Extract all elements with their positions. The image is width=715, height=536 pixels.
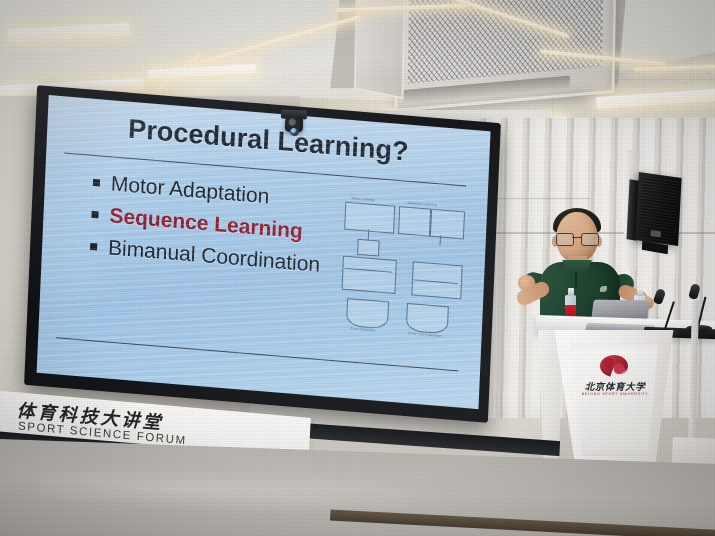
figure-panel xyxy=(342,256,397,294)
figure-caption: Prism Adaptation xyxy=(350,326,376,332)
figure-panel xyxy=(430,209,465,240)
figure-connector xyxy=(368,230,369,240)
bullet-label-motor-adaptation: Motor Adaptation xyxy=(110,172,269,210)
logo-swirl-shape xyxy=(600,355,628,377)
bullet-square-icon xyxy=(90,242,97,250)
ac-side-panel xyxy=(354,0,405,99)
bullet-square-icon xyxy=(93,179,100,187)
ac-grille-icon xyxy=(408,0,604,84)
projection-screen[interactable]: Procedural Learning? Motor Adaptation Se… xyxy=(24,85,501,423)
loudspeaker-badge xyxy=(651,230,661,237)
glasses-lens xyxy=(581,233,599,246)
polo-placket xyxy=(575,272,577,288)
glasses-icon xyxy=(556,233,598,244)
figure-connector xyxy=(440,236,441,246)
bullet-square-icon xyxy=(91,211,98,219)
slide-rule-bottom xyxy=(56,337,458,371)
bottle-cap xyxy=(568,288,574,296)
university-name-chinese: 北京体育大学 xyxy=(578,379,652,393)
bottle-cap xyxy=(637,288,643,296)
slide-title: Procedural Learning? xyxy=(47,107,490,174)
polo-logo-icon xyxy=(600,286,607,292)
glasses-lens xyxy=(556,233,574,246)
figure-panel xyxy=(344,202,395,234)
university-name-english: BEIJING SPORT UNIVERSITY xyxy=(578,392,652,396)
figure-brain-panel xyxy=(406,303,449,334)
glasses-bridge xyxy=(572,237,581,238)
lecture-hall-photo: Procedural Learning? Motor Adaptation Se… xyxy=(0,0,715,536)
university-logo-icon xyxy=(600,355,628,377)
figure-panel xyxy=(357,239,380,257)
presentation-slide: Procedural Learning? Motor Adaptation Se… xyxy=(37,95,491,409)
figure-panel xyxy=(398,206,431,237)
figure-caption: Motor Learning xyxy=(351,196,374,202)
screen-bezel: Procedural Learning? Motor Adaptation Se… xyxy=(24,85,501,423)
microphone-base[interactable] xyxy=(686,325,712,332)
figure-brain-panel xyxy=(346,298,389,329)
slide-figure-cluster: Motor Learning Sequence Learning Prism A… xyxy=(340,194,466,344)
